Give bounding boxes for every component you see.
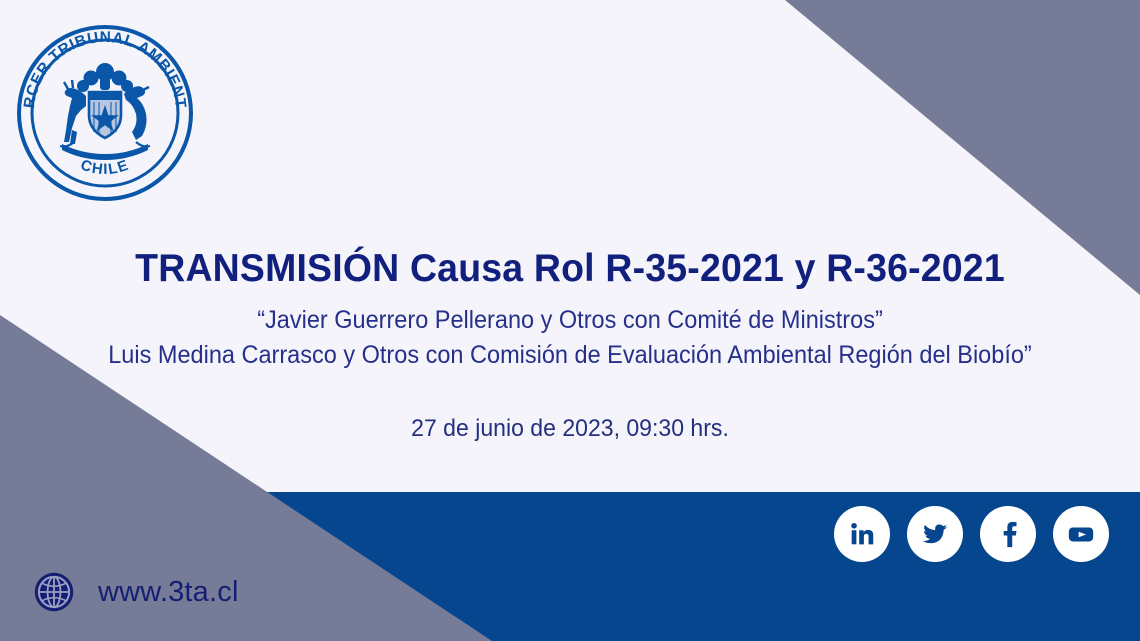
- broadcast-announcement-poster: TERCER TRIBUNAL AMBIENTAL CHILE: [0, 0, 1140, 641]
- coat-of-arms: [60, 63, 150, 160]
- institution-logo: TERCER TRIBUNAL AMBIENTAL CHILE: [12, 20, 198, 206]
- twitter-glyph: [920, 519, 950, 549]
- linkedin-icon[interactable]: [834, 506, 890, 562]
- website-url-label: www.3ta.cl: [98, 576, 239, 609]
- website-link[interactable]: www.3ta.cl: [32, 570, 239, 614]
- page-title: TRANSMISIÓN Causa Rol R-35-2021 y R-36-2…: [23, 246, 1117, 292]
- globe-icon: [32, 570, 76, 614]
- event-datetime: 27 de junio de 2023, 09:30 hrs.: [23, 414, 1117, 444]
- linkedin-glyph: [847, 519, 877, 549]
- seal-graphic: TERCER TRIBUNAL AMBIENTAL CHILE: [12, 20, 198, 206]
- facebook-glyph: [993, 519, 1023, 549]
- youtube-glyph: [1066, 519, 1096, 549]
- social-links: [834, 506, 1109, 562]
- announcement-text-block: TRANSMISIÓN Causa Rol R-35-2021 y R-36-2…: [0, 246, 1140, 444]
- case-subtitle-second: Luis Medina Carrasco y Otros con Comisió…: [34, 339, 1106, 372]
- facebook-icon[interactable]: [980, 506, 1036, 562]
- twitter-icon[interactable]: [907, 506, 963, 562]
- youtube-icon[interactable]: [1053, 506, 1109, 562]
- case-subtitle-first: “Javier Guerrero Pellerano y Otros con C…: [34, 304, 1106, 337]
